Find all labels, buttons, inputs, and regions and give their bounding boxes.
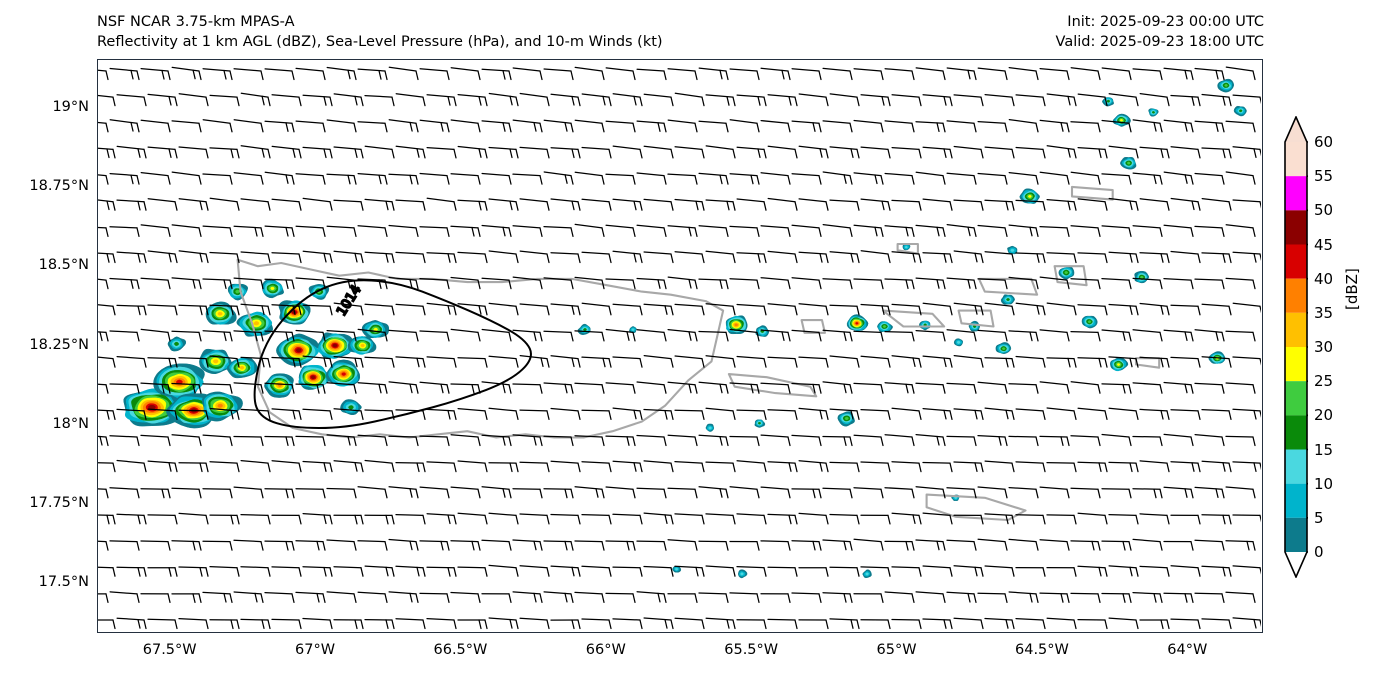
colorbar-tick-label: 0 — [1314, 543, 1324, 561]
reflectivity-contour-band — [349, 405, 354, 409]
reflectivity-contour-band — [271, 287, 275, 290]
y-tick-label: 18°N — [52, 416, 89, 432]
reflectivity-contour-band — [342, 373, 346, 376]
reflectivity-contour-band — [361, 344, 365, 347]
figure-title-block: NSF NCAR 3.75-km MPAS-A Reflectivity at … — [97, 12, 663, 52]
colorbar-band — [1285, 142, 1307, 176]
colorbar-band — [1285, 518, 1307, 552]
colorbar-canvas — [1284, 116, 1308, 578]
colorbar-tick-label: 25 — [1314, 372, 1333, 390]
colorbar-tick-label: 50 — [1314, 201, 1333, 219]
colorbar-band — [1285, 313, 1307, 347]
reflectivity-contour-band — [240, 366, 244, 369]
colorbar-tick-label: 20 — [1314, 406, 1333, 424]
reflectivity-contour-band — [236, 290, 240, 293]
reflectivity-contour-band — [1028, 195, 1031, 198]
colorbar-tick-label: 55 — [1314, 167, 1333, 185]
colorbar-axis-label: [dBZ] — [1343, 268, 1361, 310]
colorbar-band — [1285, 450, 1307, 484]
x-tick-label: 64.5°W — [1015, 642, 1069, 658]
fields-title: Reflectivity at 1 km AGL (dBZ), Sea-Leve… — [97, 32, 663, 52]
reflectivity-contour-band — [1127, 162, 1130, 164]
x-tick-label: 65.5°W — [724, 642, 778, 658]
reflectivity-contour-band — [1088, 321, 1091, 323]
colorbar-tick-label: 60 — [1314, 133, 1333, 151]
y-tick-label: 18.5°N — [39, 257, 89, 273]
reflectivity-contour-band — [218, 404, 223, 407]
y-tick-label: 19°N — [52, 99, 89, 115]
colorbar-band — [1285, 347, 1307, 381]
reflectivity-contour-band — [856, 322, 858, 324]
colorbar-tick-label: 5 — [1314, 509, 1324, 527]
reflectivity-contour-band — [213, 360, 218, 364]
reflectivity-contour-band — [1225, 84, 1228, 86]
colorbar-tick-label: 45 — [1314, 236, 1333, 254]
reflectivity-contour-band — [1140, 276, 1143, 278]
reflectivity-contour-band — [1006, 298, 1009, 300]
reflectivity-contour-band — [1120, 119, 1123, 121]
figure-time-block: Init: 2025-09-23 00:00 UTC Valid: 2025-0… — [1056, 12, 1264, 52]
colorbar-under-arrow — [1285, 552, 1307, 577]
reflectivity-contour-band — [675, 568, 678, 570]
colorbar-band — [1285, 245, 1307, 279]
reflectivity-contour-band — [709, 427, 712, 429]
x-tick-label: 67°W — [295, 642, 335, 658]
colorbar-over-arrow — [1285, 117, 1307, 142]
model-title: NSF NCAR 3.75-km MPAS-A — [97, 12, 663, 32]
x-tick-label: 65°W — [877, 642, 917, 658]
reflectivity-contour-band — [845, 417, 848, 420]
y-tick-label: 17.5°N — [39, 574, 89, 590]
reflectivity-contour-band — [632, 329, 635, 331]
colorbar[interactable] — [1284, 116, 1308, 578]
reflectivity-contour-band — [296, 349, 301, 353]
weather-map-figure: NSF NCAR 3.75-km MPAS-A Reflectivity at … — [0, 0, 1378, 687]
reflectivity-contour-band — [905, 246, 908, 248]
reflectivity-contour-band — [866, 573, 869, 575]
colorbar-bands — [1285, 117, 1307, 577]
colorbar-tick-label: 30 — [1314, 338, 1333, 356]
reflectivity-contour-band — [583, 328, 586, 331]
y-tick-label: 17.75°N — [29, 495, 89, 511]
reflectivity-contour-band — [741, 573, 744, 575]
reflectivity-contour-band — [1239, 110, 1242, 112]
reflectivity-contour-band — [1011, 249, 1014, 252]
colorbar-band — [1285, 210, 1307, 244]
reflectivity-contour-band — [1152, 111, 1154, 113]
colorbar-band — [1285, 381, 1307, 415]
valid-time-label: Valid: 2025-09-23 18:00 UTC — [1056, 32, 1264, 52]
colorbar-tick-label: 35 — [1314, 304, 1333, 322]
colorbar-tick-label: 10 — [1314, 475, 1333, 493]
reflectivity-contour-band — [735, 324, 738, 326]
reflectivity-contour-band — [758, 422, 761, 424]
reflectivity-contour-band — [1002, 348, 1005, 350]
colorbar-tick-label: 15 — [1314, 441, 1333, 459]
colorbar-band — [1285, 176, 1307, 210]
reflectivity-contour-band — [254, 321, 259, 325]
x-tick-label: 64°W — [1167, 642, 1207, 658]
reflectivity-contour-band — [311, 376, 315, 379]
map-canvas: 1014 — [98, 60, 1261, 631]
x-tick-label: 66.5°W — [434, 642, 488, 658]
reflectivity-contour-band — [174, 342, 178, 345]
init-time-label: Init: 2025-09-23 00:00 UTC — [1056, 12, 1264, 32]
reflectivity-contour-band — [333, 344, 337, 347]
reflectivity-contour-band — [957, 341, 960, 344]
colorbar-band — [1285, 415, 1307, 449]
colorbar-tick-label: 40 — [1314, 270, 1333, 288]
colorbar-band — [1285, 279, 1307, 313]
reflectivity-contour-band — [1107, 100, 1110, 102]
y-tick-label: 18.75°N — [29, 178, 89, 194]
reflectivity-contour-band — [883, 325, 886, 327]
x-tick-label: 67.5°W — [143, 642, 197, 658]
map-axes[interactable]: 1014 — [97, 59, 1263, 633]
x-tick-label: 66°W — [586, 642, 626, 658]
reflectivity-contour-band — [1117, 363, 1120, 365]
y-tick-label: 18.25°N — [29, 337, 89, 353]
reflectivity-contour-band — [218, 312, 222, 315]
reflectivity-contour-band — [1065, 271, 1068, 273]
colorbar-band — [1285, 484, 1307, 518]
